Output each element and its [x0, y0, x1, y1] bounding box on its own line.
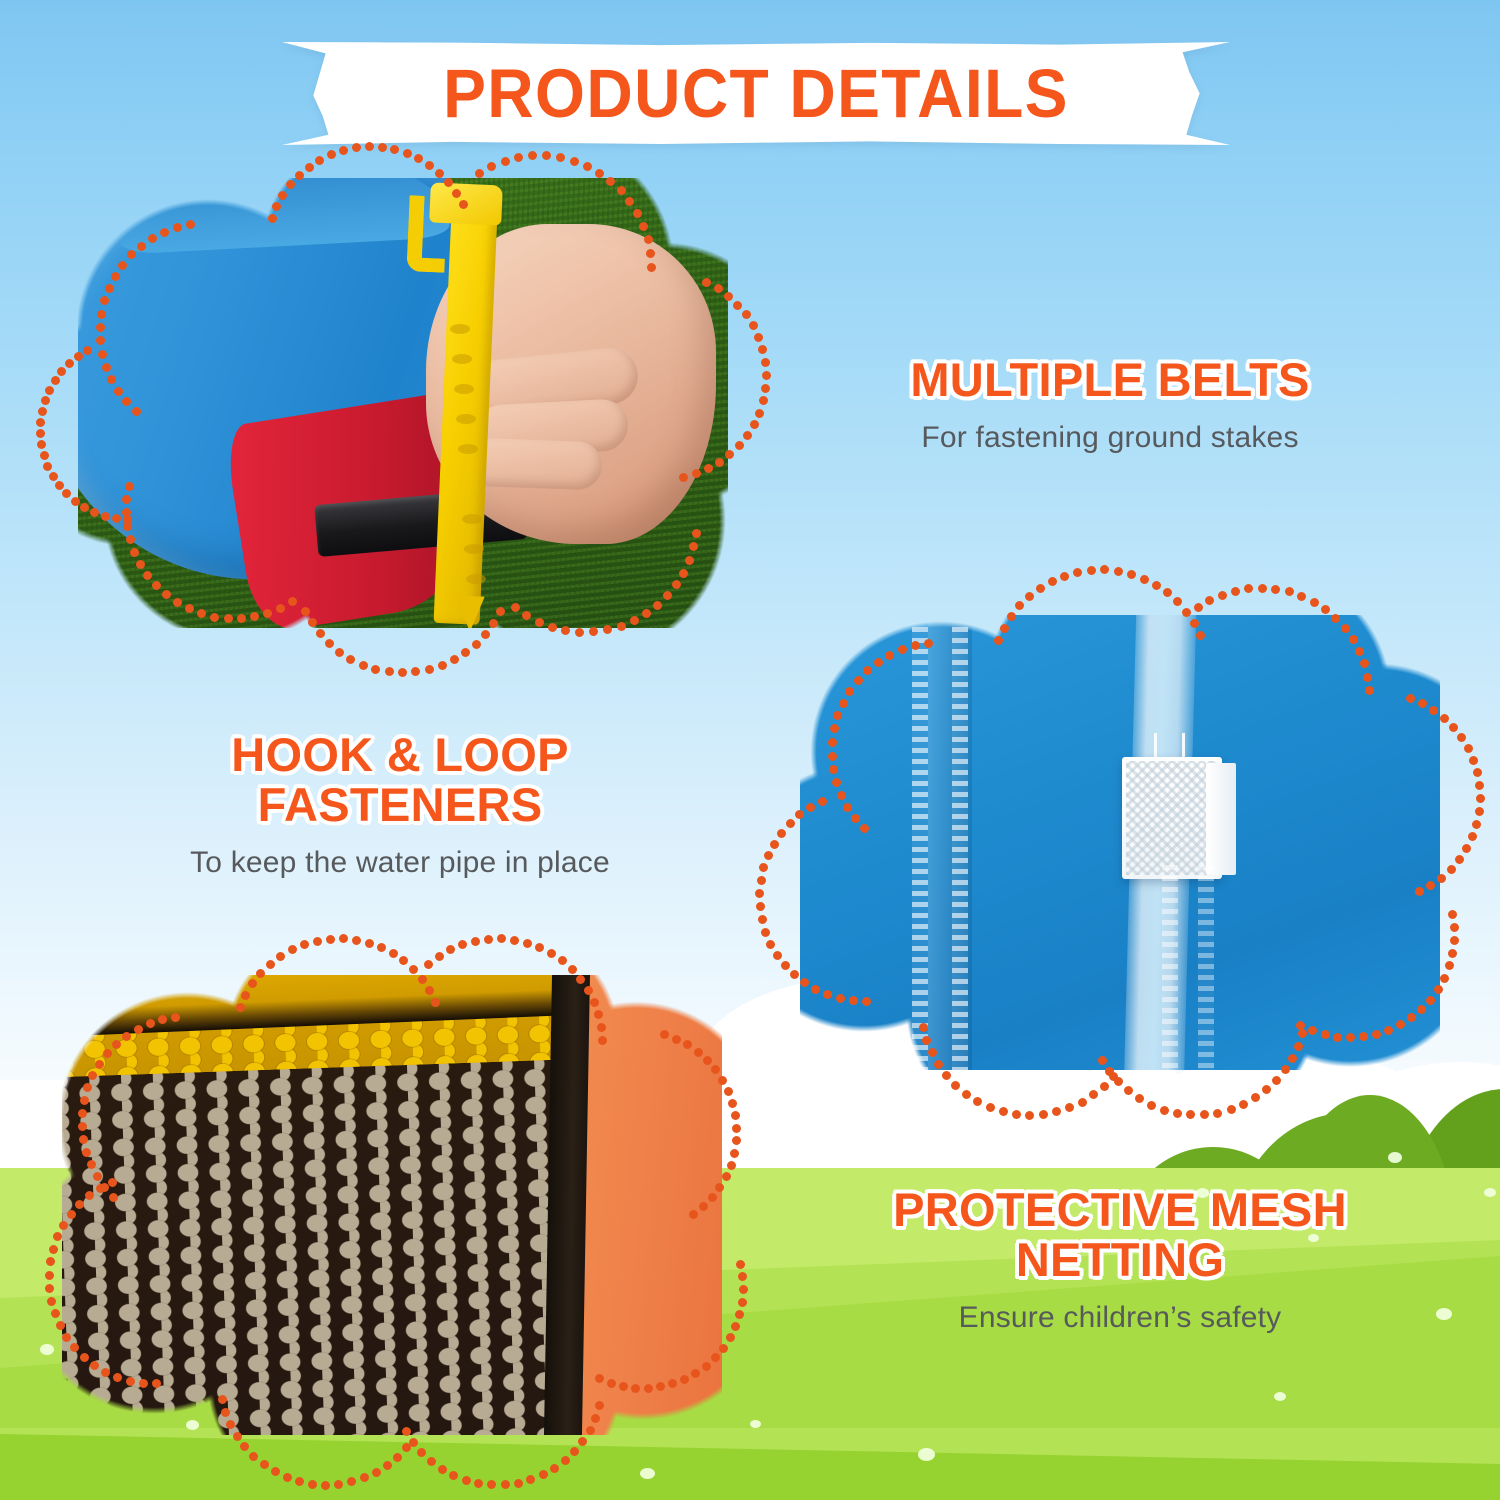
border-dot [1349, 635, 1358, 644]
border-dot [836, 994, 845, 1003]
border-dot [715, 458, 724, 467]
border-dot [758, 915, 767, 924]
border-dot [724, 1087, 733, 1096]
border-dot [1114, 567, 1123, 576]
border-dot [755, 409, 764, 418]
border-dot [514, 1479, 523, 1488]
border-dot [733, 301, 742, 310]
border-dot [999, 1107, 1008, 1116]
border-dot [501, 1480, 510, 1489]
border-dot [727, 1161, 736, 1170]
border-dot [1190, 619, 1199, 628]
border-dot [647, 263, 656, 272]
blue-vinyl-surface [800, 615, 1440, 1070]
border-dot [305, 163, 314, 172]
border-dot [919, 1023, 928, 1032]
border-dot [757, 876, 766, 885]
border-dot [67, 1210, 76, 1219]
border-dot [109, 1193, 118, 1202]
border-dot [36, 418, 45, 427]
border-dot [679, 569, 688, 578]
border-dot [837, 791, 846, 800]
photo-hook-and-loop [800, 615, 1440, 1070]
border-dot [732, 1124, 741, 1133]
border-dot [773, 951, 782, 960]
border-dot [1321, 605, 1330, 614]
border-dot [770, 840, 779, 849]
border-dot [928, 1048, 937, 1057]
border-dot [136, 560, 145, 569]
border-dot [680, 1375, 689, 1384]
border-dot [839, 699, 848, 708]
feature-subtitle-protective-mesh: Ensure children’s safety [800, 1298, 1440, 1337]
border-dot [586, 1426, 595, 1435]
border-dot [570, 157, 579, 166]
border-dot [924, 639, 933, 648]
border-dot [1078, 1098, 1087, 1107]
border-dot [708, 1193, 717, 1202]
border-dot [471, 937, 480, 946]
border-dot [781, 961, 790, 970]
border-dot [339, 146, 348, 155]
border-dot [383, 1461, 392, 1470]
velcro-texture [1126, 761, 1218, 875]
border-dot [738, 1298, 747, 1307]
border-dot [418, 975, 427, 984]
border-dot [1363, 673, 1372, 682]
border-dot [590, 998, 599, 1007]
border-dot [756, 902, 765, 911]
border-dot [849, 996, 858, 1005]
feature-heading-multiple-belts: MULTIPLE BELTS [820, 355, 1400, 405]
photo-multiple-belts [78, 178, 728, 628]
border-dot [561, 1456, 570, 1465]
border-dot [122, 1032, 131, 1041]
border-dot [321, 1481, 330, 1490]
border-dot [365, 142, 374, 151]
border-dot [584, 986, 593, 995]
border-dot [393, 1453, 402, 1462]
border-dot [1434, 985, 1443, 994]
border-dot [1333, 1033, 1342, 1042]
velcro-flap [1206, 763, 1236, 875]
border-dot [1429, 706, 1438, 715]
border-dot [315, 156, 324, 165]
page-title: PRODUCT DETAILS [315, 42, 1197, 145]
border-dot [685, 556, 694, 565]
border-dot [583, 162, 592, 171]
border-dot [71, 497, 80, 506]
border-dot [38, 407, 47, 416]
border-dot [372, 1468, 381, 1477]
border-dot [704, 464, 713, 473]
infographic-canvas: PRODUCT DETAILS [0, 0, 1500, 1500]
border-dot [114, 387, 123, 396]
border-dot [224, 614, 233, 623]
border-dot [764, 851, 773, 860]
border-dot [431, 998, 440, 1007]
border-dot [435, 952, 444, 961]
border-dot [377, 943, 386, 952]
border-dot [438, 661, 447, 670]
border-dot [95, 1060, 104, 1069]
border-dot [595, 169, 604, 178]
border-dot [125, 482, 134, 491]
border-dot [1039, 1110, 1048, 1119]
border-dot [1007, 612, 1016, 621]
border-dot [646, 249, 655, 258]
feature-block-hook-and-loop: HOOK & LOOP FASTENERS To keep the water … [100, 730, 700, 882]
border-dot [472, 640, 481, 649]
border-dot [1140, 575, 1149, 584]
border-dot [101, 1368, 110, 1377]
border-dot [134, 1025, 143, 1034]
border-dot [1447, 865, 1456, 874]
border-dot [539, 1470, 548, 1479]
border-dot [1025, 592, 1034, 601]
border-dot [389, 949, 398, 958]
stitch-line-lower-2 [1198, 865, 1214, 1095]
border-dot [633, 209, 642, 218]
border-dot [236, 1003, 245, 1012]
border-dot [87, 1160, 96, 1169]
border-dot [714, 284, 723, 293]
border-dot [606, 177, 615, 186]
border-dot [327, 150, 336, 159]
border-dot [619, 1382, 628, 1391]
border-dot [694, 1048, 703, 1057]
border-dot [510, 936, 519, 945]
border-dot [1341, 624, 1350, 633]
border-dot [132, 407, 141, 416]
border-dot [1285, 587, 1294, 596]
border-dot [874, 658, 883, 667]
border-dot [288, 945, 297, 954]
border-dot [550, 1464, 559, 1473]
border-dot [75, 1200, 84, 1209]
border-dot [45, 1284, 54, 1293]
border-dot [112, 514, 121, 523]
page-title-banner: PRODUCT DETAILS [282, 42, 1230, 145]
border-dot [639, 222, 648, 231]
border-dot [130, 548, 139, 557]
cloud-photo-mask-1 [78, 178, 728, 628]
border-dot [139, 1379, 148, 1388]
border-dot [739, 1285, 748, 1294]
border-dot [475, 169, 484, 178]
border-dot [378, 143, 387, 152]
border-dot [617, 186, 626, 195]
border-dot [672, 1035, 681, 1044]
feature-subtitle-hook-and-loop: To keep the water pipe in place [100, 843, 700, 882]
border-dot [762, 371, 771, 380]
border-dot [45, 1271, 54, 1280]
border-dot [1109, 1072, 1118, 1081]
border-dot [726, 1333, 735, 1342]
border-dot [1087, 566, 1096, 575]
border-dot [489, 619, 498, 628]
border-dot [851, 814, 860, 823]
border-dot [1440, 974, 1449, 983]
border-dot [365, 939, 374, 948]
border-dot [761, 384, 770, 393]
stitch-line-lower [1162, 865, 1178, 1095]
feature-subtitle-multiple-belts: For fastening ground stakes [820, 418, 1400, 457]
border-dot [96, 1184, 105, 1193]
border-dot [597, 1023, 606, 1032]
border-dot [1272, 1076, 1281, 1085]
border-dot [724, 292, 733, 301]
border-dot [523, 939, 532, 948]
border-dot [607, 1379, 616, 1388]
border-dot [1464, 744, 1473, 753]
border-dot [51, 1309, 60, 1318]
border-dot [276, 604, 285, 613]
border-dot [766, 940, 775, 949]
border-dot [1127, 570, 1136, 579]
border-dot [730, 1149, 739, 1158]
border-dot [112, 1040, 121, 1049]
border-dot [102, 363, 111, 372]
border-dot [385, 667, 394, 676]
border-dot [911, 641, 920, 650]
border-dot [459, 200, 468, 209]
border-dot [854, 676, 863, 685]
border-dot [137, 242, 146, 251]
border-dot [1231, 587, 1240, 596]
border-dot [1152, 581, 1161, 590]
border-dot [98, 350, 107, 359]
border-dot [481, 630, 490, 639]
border-dot [1450, 923, 1459, 932]
border-dot [1288, 1054, 1297, 1063]
border-dot [1355, 647, 1364, 656]
border-dot [40, 451, 49, 460]
border-dot [313, 937, 322, 946]
border-dot [1173, 1109, 1182, 1118]
border-dot [1455, 855, 1464, 864]
border-dot [78, 1122, 87, 1131]
border-dot [547, 949, 556, 958]
border-dot [335, 648, 344, 657]
border-dot [45, 386, 54, 395]
border-dot [575, 628, 584, 637]
border-dot [97, 310, 106, 319]
border-dot [326, 935, 335, 944]
border-dot [268, 214, 277, 223]
border-dot [1147, 1101, 1156, 1110]
border-dot [1218, 591, 1227, 600]
border-dot [1449, 723, 1458, 732]
border-dot [1213, 1109, 1222, 1118]
border-dot [1440, 714, 1449, 723]
border-dot [462, 1476, 471, 1485]
border-dot [828, 738, 837, 747]
border-dot [47, 1297, 56, 1306]
border-dot [759, 396, 768, 405]
border-dot [617, 622, 626, 631]
cloud-photo-mask-3 [62, 975, 722, 1435]
border-dot [548, 623, 557, 632]
cloud-photo-mask-2 [800, 615, 1440, 1070]
feature-heading-hook-and-loop: HOOK & LOOP FASTENERS [100, 730, 700, 830]
border-dot [241, 991, 250, 1000]
border-dot [59, 1221, 68, 1230]
border-dot [402, 1427, 411, 1436]
border-dot [1060, 572, 1069, 581]
border-dot [308, 618, 317, 627]
border-dot [535, 618, 544, 627]
border-dot [496, 607, 505, 616]
border-dot [1321, 1030, 1330, 1039]
border-dot [1426, 996, 1435, 1005]
border-dot [1472, 820, 1481, 829]
border-dot [591, 1414, 600, 1423]
border-dot [722, 1172, 731, 1181]
feature-block-multiple-belts: MULTIPLE BELTS For fastening ground stak… [820, 355, 1400, 457]
border-dot [36, 429, 45, 438]
border-dot [595, 1374, 604, 1383]
border-dot [111, 272, 120, 281]
border-dot [288, 597, 297, 606]
border-dot [301, 607, 310, 616]
border-dot [260, 1460, 269, 1469]
border-dot [96, 323, 105, 332]
photo-protective-mesh [62, 975, 722, 1435]
border-dot [1298, 1029, 1307, 1038]
border-dot [702, 1362, 711, 1371]
border-dot [1294, 1042, 1303, 1051]
border-dot [1182, 608, 1191, 617]
border-dot [1048, 577, 1057, 586]
border-dot [1000, 624, 1009, 633]
border-dot [1476, 794, 1485, 803]
border-dot [359, 661, 368, 670]
border-dot [719, 1344, 728, 1353]
border-dot [1227, 1105, 1236, 1114]
border-dot [484, 935, 493, 944]
border-dot [126, 535, 135, 544]
border-dot [829, 765, 838, 774]
border-dot [334, 1480, 343, 1489]
border-dot [80, 1096, 89, 1105]
border-dot [1450, 936, 1459, 945]
border-dot [295, 171, 304, 180]
border-dot [818, 797, 827, 806]
border-dot [82, 1148, 91, 1157]
border-dot [403, 149, 412, 158]
border-dot [450, 655, 459, 664]
border-dot [1437, 874, 1446, 883]
border-dot [173, 598, 182, 607]
border-dot [49, 472, 58, 481]
border-dot [233, 1432, 242, 1441]
border-dot [210, 613, 219, 622]
border-dot [692, 469, 701, 478]
border-dot [452, 189, 461, 198]
border-dot [325, 639, 334, 648]
border-dot [80, 1353, 89, 1362]
border-dot [828, 752, 837, 761]
border-dot [105, 284, 114, 293]
border-dot [55, 481, 64, 490]
border-dot [126, 1377, 135, 1386]
border-dot [90, 1361, 99, 1370]
border-dot [1271, 585, 1280, 594]
border-dot [438, 1465, 447, 1474]
border-dot [308, 1480, 317, 1489]
border-dot [986, 1103, 995, 1112]
stitch-line-left [912, 605, 928, 1085]
border-dot [711, 1353, 720, 1362]
border-dot [1160, 1106, 1169, 1115]
border-dot [283, 1473, 292, 1482]
border-dot [1012, 1110, 1021, 1119]
border-dot [316, 629, 325, 638]
border-dot [692, 529, 701, 538]
feature-heading-protective-mesh: PROTECTIVE MESH NETTING [800, 1185, 1440, 1285]
border-dot [425, 665, 434, 674]
border-dot [777, 829, 786, 838]
stitch-line-right [952, 605, 968, 1085]
border-dot [1365, 686, 1374, 695]
border-dot [761, 928, 770, 937]
border-dot [1098, 1056, 1107, 1065]
border-dot [862, 997, 871, 1006]
border-dot [631, 1384, 640, 1393]
border-dot [146, 1019, 155, 1028]
border-dot [735, 441, 744, 450]
border-dot [786, 819, 795, 828]
border-dot [679, 473, 688, 482]
border-dot [568, 965, 577, 974]
border-dot [1475, 807, 1484, 816]
border-dot [118, 261, 127, 270]
border-dot [1036, 584, 1045, 593]
border-dot [761, 358, 770, 367]
feature-block-protective-mesh: PROTECTIVE MESH NETTING Ensure children’… [800, 1185, 1440, 1337]
border-dot [108, 1178, 117, 1187]
border-dot [41, 396, 50, 405]
border-dot [1258, 584, 1267, 593]
border-dot [644, 1384, 653, 1393]
border-dot [750, 420, 759, 429]
border-dot [644, 235, 653, 244]
border-dot [703, 1056, 712, 1065]
border-dot [1100, 1082, 1109, 1091]
border-dot [339, 934, 348, 943]
border-dot [743, 431, 752, 440]
border-dot [699, 1202, 708, 1211]
border-dot [501, 157, 510, 166]
border-dot [1457, 733, 1466, 742]
border-dot [962, 1090, 971, 1099]
border-dot [101, 512, 110, 521]
border-dot [689, 1210, 698, 1219]
border-dot [237, 614, 246, 623]
border-dot [49, 1245, 58, 1254]
border-dot [1372, 1030, 1381, 1039]
border-dot [300, 940, 309, 949]
border-dot [266, 960, 275, 969]
border-dot [898, 645, 907, 654]
border-dot [78, 1109, 87, 1118]
border-dot [1310, 598, 1319, 607]
border-dot [74, 352, 83, 361]
border-dot [93, 1172, 102, 1181]
border-dot [51, 376, 60, 385]
border-dot [352, 936, 361, 945]
